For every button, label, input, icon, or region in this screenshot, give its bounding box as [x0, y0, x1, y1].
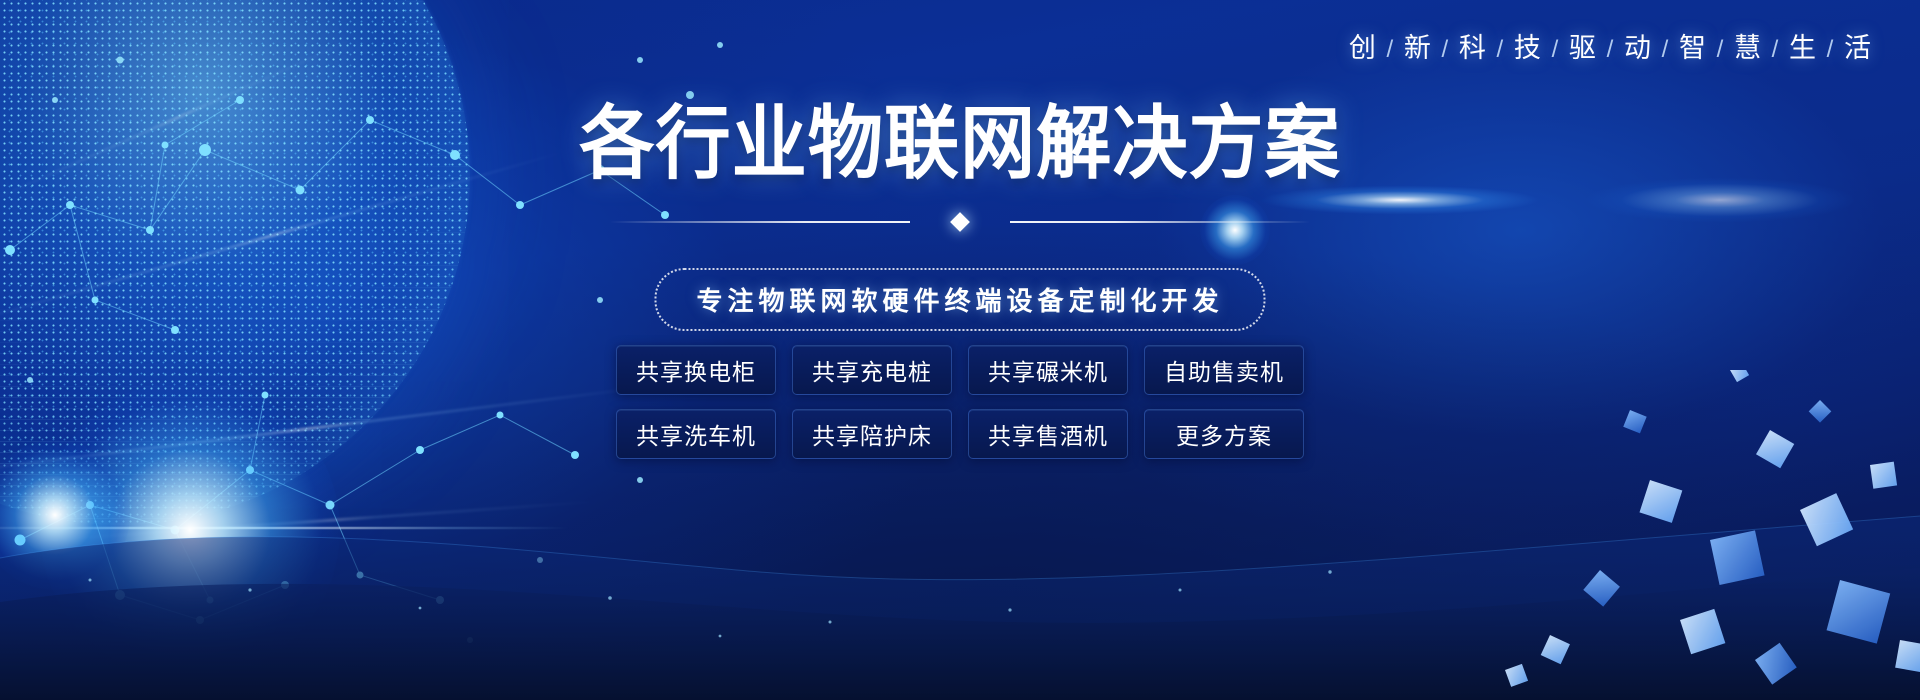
kicker-separator: / [1709, 36, 1732, 63]
solution-tag-button[interactable]: 更多方案 [1144, 409, 1304, 459]
solution-tag-button[interactable]: 自助售卖机 [1144, 345, 1304, 395]
kicker-separator: / [1489, 36, 1512, 63]
kicker-segment: 活 [1844, 33, 1872, 63]
kicker-separator: / [1819, 36, 1842, 63]
kicker-segment: 驱 [1569, 33, 1597, 63]
kicker-text: 创 / 新 / 科 / 技 / 驱 / 动 / 智 / 慧 / 生 / 活 [1349, 33, 1872, 63]
solution-tag-button[interactable]: 共享换电柜 [616, 345, 776, 395]
divider-line-left [610, 221, 910, 223]
tag-row-1: 共享换电柜共享充电桩共享碾米机自助售卖机 [605, 345, 1315, 395]
kicker-separator: / [1434, 36, 1457, 63]
kicker-segment: 新 [1404, 33, 1432, 63]
kicker-separator: / [1764, 36, 1787, 63]
page-title-text: 各行业物联网解决方案 [579, 104, 1340, 184]
hero-banner: 创 / 新 / 科 / 技 / 驱 / 动 / 智 / 慧 / 生 / 活 各行… [0, 0, 1920, 700]
solution-tag-group: 共享换电柜共享充电桩共享碾米机自助售卖机 共享洗车机共享陪护床共享售酒机更多方案 [605, 345, 1315, 473]
kicker-segment: 慧 [1734, 33, 1762, 63]
solution-tag-button[interactable]: 共享售酒机 [968, 409, 1128, 459]
kicker-separator: / [1654, 36, 1677, 63]
diamond-icon [950, 212, 970, 232]
kicker-separator: / [1379, 36, 1402, 63]
solution-tag-button[interactable]: 共享洗车机 [616, 409, 776, 459]
kicker-separator: / [1544, 36, 1567, 63]
subtitle-text: 专注物联网软硬件终端设备定制化开发 [696, 286, 1223, 316]
solution-tag-button[interactable]: 共享充电桩 [792, 345, 952, 395]
kicker-separator: / [1599, 36, 1622, 63]
divider-line-right [1010, 221, 1310, 223]
solution-tag-button[interactable]: 共享陪护床 [792, 409, 952, 459]
kicker-segment: 动 [1624, 33, 1652, 63]
page-title: 各行业物联网解决方案 [555, 104, 1365, 184]
solution-tag-button[interactable]: 共享碾米机 [968, 345, 1128, 395]
tag-row-2: 共享洗车机共享陪护床共享售酒机更多方案 [605, 409, 1315, 459]
title-divider [610, 212, 1310, 232]
subtitle-pill: 专注物联网软硬件终端设备定制化开发 [654, 268, 1265, 331]
kicker-tagline: 创 / 新 / 科 / 技 / 驱 / 动 / 智 / 慧 / 生 / 活 [1349, 26, 1872, 65]
kicker-segment: 智 [1679, 33, 1707, 63]
kicker-segment: 科 [1459, 33, 1487, 63]
kicker-segment: 技 [1514, 33, 1542, 63]
kicker-segment: 生 [1789, 33, 1817, 63]
kicker-segment: 创 [1349, 33, 1377, 63]
